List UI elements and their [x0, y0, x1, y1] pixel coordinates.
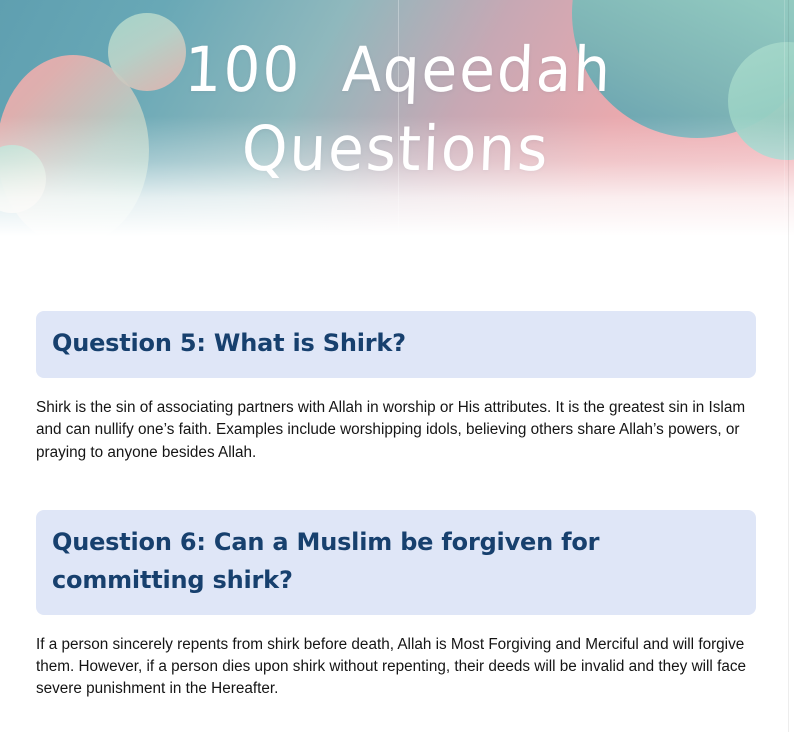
question-answer-spacer-2: [36, 615, 758, 634]
page-banner: 100 Aqeedah Questions: [0, 0, 794, 236]
answer-text-2: If a person sincerely repents from shirk…: [36, 634, 748, 701]
document-body: Question 5: What is Shirk? Shirk is the …: [0, 236, 794, 701]
question-answer-spacer-1: [36, 378, 758, 397]
question-block-2: Question 6: Can a Muslim be forgiven for…: [36, 510, 756, 615]
page-title: 100 Aqeedah Questions: [0, 31, 794, 189]
page-right-edge: [788, 0, 789, 732]
question-block-1: Question 5: What is Shirk?: [36, 311, 756, 378]
question-heading-1: Question 5: What is Shirk?: [52, 325, 740, 363]
question-heading-2: Question 6: Can a Muslim be forgiven for…: [52, 524, 740, 600]
page-title-line-2: Questions: [0, 110, 794, 189]
page-title-line-1: 100 Aqeedah: [0, 31, 794, 110]
answer-text-1: Shirk is the sin of associating partners…: [36, 397, 748, 464]
answer-question-spacer: [36, 464, 758, 510]
top-spacer: [36, 236, 758, 311]
